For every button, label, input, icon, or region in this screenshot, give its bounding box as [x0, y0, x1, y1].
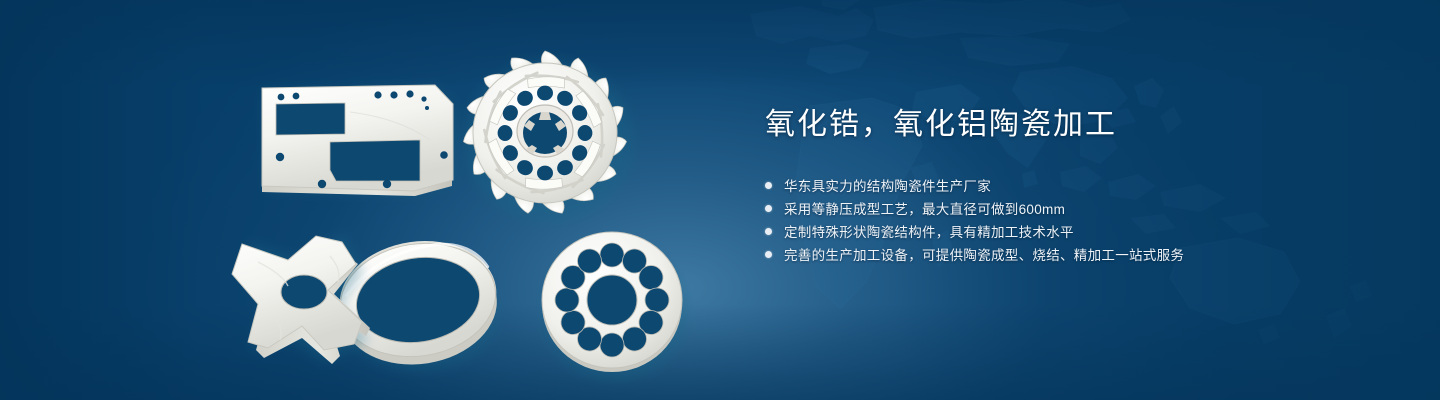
ceramic-impeller-disc — [462, 51, 633, 221]
feature-item: 完善的生产加工设备，可提供陶瓷成型、烧结、精加工一站式服务 — [765, 243, 1385, 266]
bullet-dot-icon — [765, 182, 772, 189]
banner-copy: 氧化锆，氧化铝陶瓷加工 华东具实力的结构陶瓷件生产厂家 采用等静压成型工艺，最大… — [765, 106, 1385, 266]
feature-item: 定制特殊形状陶瓷结构件，具有精加工技术水平 — [765, 220, 1385, 243]
banner-feature-list: 华东具实力的结构陶瓷件生产厂家 采用等静压成型工艺，最大直径可做到600mm 定… — [765, 174, 1385, 266]
feature-item: 华东具实力的结构陶瓷件生产厂家 — [765, 174, 1385, 197]
bullet-dot-icon — [765, 251, 772, 258]
feature-text: 采用等静压成型工艺，最大直径可做到600mm — [784, 198, 1065, 218]
promo-banner: 氧化锆，氧化铝陶瓷加工 华东具实力的结构陶瓷件生产厂家 采用等静压成型工艺，最大… — [0, 0, 1440, 400]
ceramic-machined-plate — [262, 85, 455, 196]
feature-text: 完善的生产加工设备，可提供陶瓷成型、烧结、精加工一站式服务 — [784, 244, 1184, 264]
ceramic-perforated-disc — [542, 232, 687, 380]
ceramic-products-image — [0, 0, 740, 400]
banner-headline: 氧化锆，氧化铝陶瓷加工 — [765, 106, 1385, 144]
ceramic-ring — [332, 232, 505, 375]
feature-text: 定制特殊形状陶瓷结构件，具有精加工技术水平 — [784, 221, 1074, 241]
bullet-dot-icon — [765, 205, 772, 212]
feature-text: 华东具实力的结构陶瓷件生产厂家 — [784, 175, 991, 195]
feature-item: 采用等静压成型工艺，最大直径可做到600mm — [765, 197, 1385, 220]
bullet-dot-icon — [765, 228, 772, 235]
